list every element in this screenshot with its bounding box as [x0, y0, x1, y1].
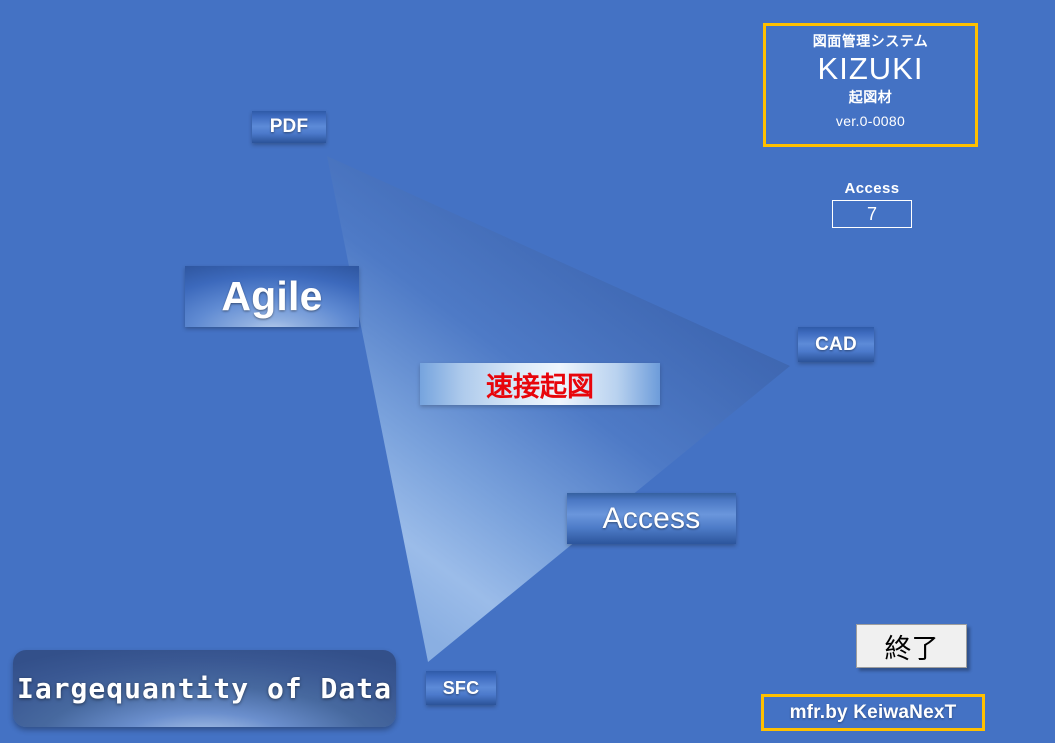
access-counter: Access 7	[820, 180, 924, 228]
system-subtitle-top: 図面管理システム	[813, 32, 929, 50]
triangle-shape	[327, 156, 790, 662]
system-title: KIZUKI	[818, 51, 924, 87]
system-subtitle-bottom: 起図材	[849, 88, 893, 106]
access-counter-label: Access	[845, 180, 900, 197]
cad-button[interactable]: CAD	[798, 327, 874, 362]
exit-button[interactable]: 終了	[856, 624, 967, 668]
access-button[interactable]: Access	[567, 493, 736, 544]
system-title-panel: 図面管理システム KIZUKI 起図材 ver.0-0080	[763, 23, 978, 147]
system-version: ver.0-0080	[836, 113, 905, 129]
agile-button[interactable]: Agile	[185, 266, 359, 327]
access-counter-value: 7	[832, 200, 912, 228]
quick-draft-button[interactable]: 速接起図	[420, 363, 660, 405]
manufacturer-badge[interactable]: mfr.by KeiwaNexT	[761, 694, 985, 731]
app-window: 図面管理システム KIZUKI 起図材 ver.0-0080 Access 7 …	[0, 0, 1055, 743]
pdf-button[interactable]: PDF	[252, 111, 326, 143]
large-quantity-of-data-button[interactable]: Iargequantity of Data	[13, 650, 396, 727]
sfc-button[interactable]: SFC	[426, 671, 496, 705]
